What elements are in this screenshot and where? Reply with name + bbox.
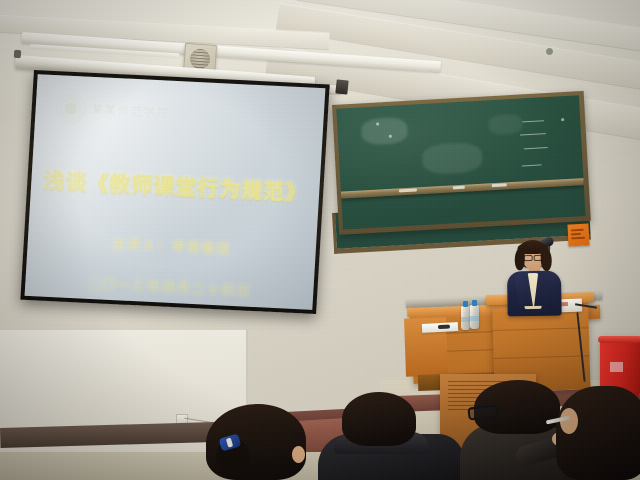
chalk-mark (376, 122, 379, 125)
school-seal-icon (53, 91, 89, 127)
lecturer-at-podium (502, 239, 565, 310)
student-hair (342, 392, 416, 446)
chalk-writing (523, 147, 547, 149)
glasses-icon (524, 255, 543, 259)
slide-title: 浅谈《教师课堂行为规范》 (31, 164, 320, 208)
remote-on-desk (438, 324, 450, 329)
chalk-writing (522, 120, 544, 122)
student-far-right (556, 386, 640, 480)
chalk-smudge (421, 142, 483, 175)
slide-date: 二〇一三年四月二十四日 (25, 270, 314, 303)
chalk-stick (399, 189, 417, 193)
chalk-stick (491, 184, 506, 188)
projection-screen: 某某师范学院 浅谈《教师课堂行为规范》 主讲人：李荣教授 二〇一三年四月二十四日 (20, 70, 329, 314)
projected-slide: 某某师范学院 浅谈《教师课堂行为规范》 主讲人：李荣教授 二〇一三年四月二十四日 (25, 74, 326, 310)
blackboard (336, 95, 585, 229)
bin-label (610, 362, 623, 372)
classroom-photo: MITSUBISHI (0, 0, 640, 480)
blackboard-frame (332, 91, 591, 235)
student-front-left (196, 404, 316, 480)
orange-wall-notice (567, 223, 589, 246)
water-bottle (461, 306, 470, 330)
chalk-writing (522, 164, 542, 166)
water-bottle (470, 305, 479, 329)
ceiling-hook-icon (546, 48, 553, 55)
chalk-smudge (487, 113, 522, 135)
slide-presenter: 主讲人：李荣教授 (27, 229, 316, 262)
chalk-smudge (361, 117, 408, 146)
screen-roller-knob[interactable] (14, 50, 22, 58)
slide-organization: 某某师范学院 (91, 101, 170, 121)
chalk-tray (341, 179, 584, 200)
chalk-mark (561, 118, 564, 121)
chalk-writing (520, 133, 546, 135)
student-center (318, 392, 464, 480)
bin-rim (598, 336, 640, 343)
chalk-stick (453, 186, 465, 190)
wall-mount-arm (335, 79, 348, 94)
papers-on-desk (422, 322, 458, 333)
student-ear (292, 446, 305, 463)
